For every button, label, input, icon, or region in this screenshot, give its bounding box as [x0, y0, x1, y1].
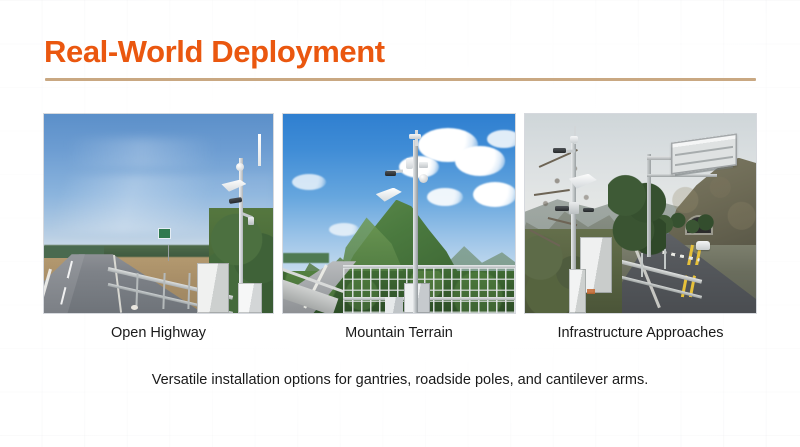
cloud: [292, 174, 326, 190]
mid-camera-housing: [406, 158, 413, 169]
cloud: [455, 146, 505, 176]
equipment-cabinet: [197, 263, 229, 313]
pole-base-cabinet: [238, 283, 262, 313]
top-sensor-unit: [570, 136, 578, 143]
slide-canvas: Real-World Deployment: [0, 0, 800, 447]
bullet-camera: [385, 171, 396, 176]
photo-mountain-terrain[interactable]: [283, 114, 515, 313]
pole-base-cabinet: [569, 269, 586, 313]
photo-infrastructure-approaches[interactable]: [525, 114, 756, 313]
photo-gallery: [44, 114, 756, 313]
caption-open-highway: Open Highway: [44, 325, 273, 342]
galvanised-mast: [413, 140, 418, 313]
secondary-cabinet: [385, 297, 403, 313]
page-title: Real-World Deployment: [44, 36, 385, 69]
cirrus-wisp: [67, 138, 216, 170]
caption-infrastructure-approaches: Infrastructure Approaches: [525, 325, 756, 342]
sign-post: [168, 245, 170, 261]
junction-box: [569, 202, 579, 214]
caption-row: Open Highway Mountain Terrain Infrastruc…: [44, 325, 756, 342]
green-noise-barrier: [283, 253, 329, 263]
junction-box: [248, 217, 254, 225]
road-debris: [131, 305, 138, 310]
whip-antenna: [258, 134, 261, 166]
cloud: [473, 182, 515, 207]
fence-top-rail: [343, 265, 515, 268]
dome-camera: [419, 174, 428, 183]
lower-camera: [583, 208, 594, 212]
junction-box: [419, 162, 428, 168]
orange-marker: [587, 289, 595, 294]
footer-note: Versatile installation options for gantr…: [0, 372, 800, 388]
green-highway-sign: [159, 229, 170, 238]
title-underline-rule: [45, 78, 756, 81]
lower-camera: [555, 206, 569, 211]
bullet-camera: [553, 148, 566, 153]
caption-mountain-terrain: Mountain Terrain: [283, 325, 515, 342]
photo-open-highway[interactable]: [44, 114, 273, 313]
cloud: [427, 188, 463, 206]
gantry-column: [647, 154, 651, 257]
top-camera: [409, 134, 421, 139]
cloud: [487, 130, 515, 148]
